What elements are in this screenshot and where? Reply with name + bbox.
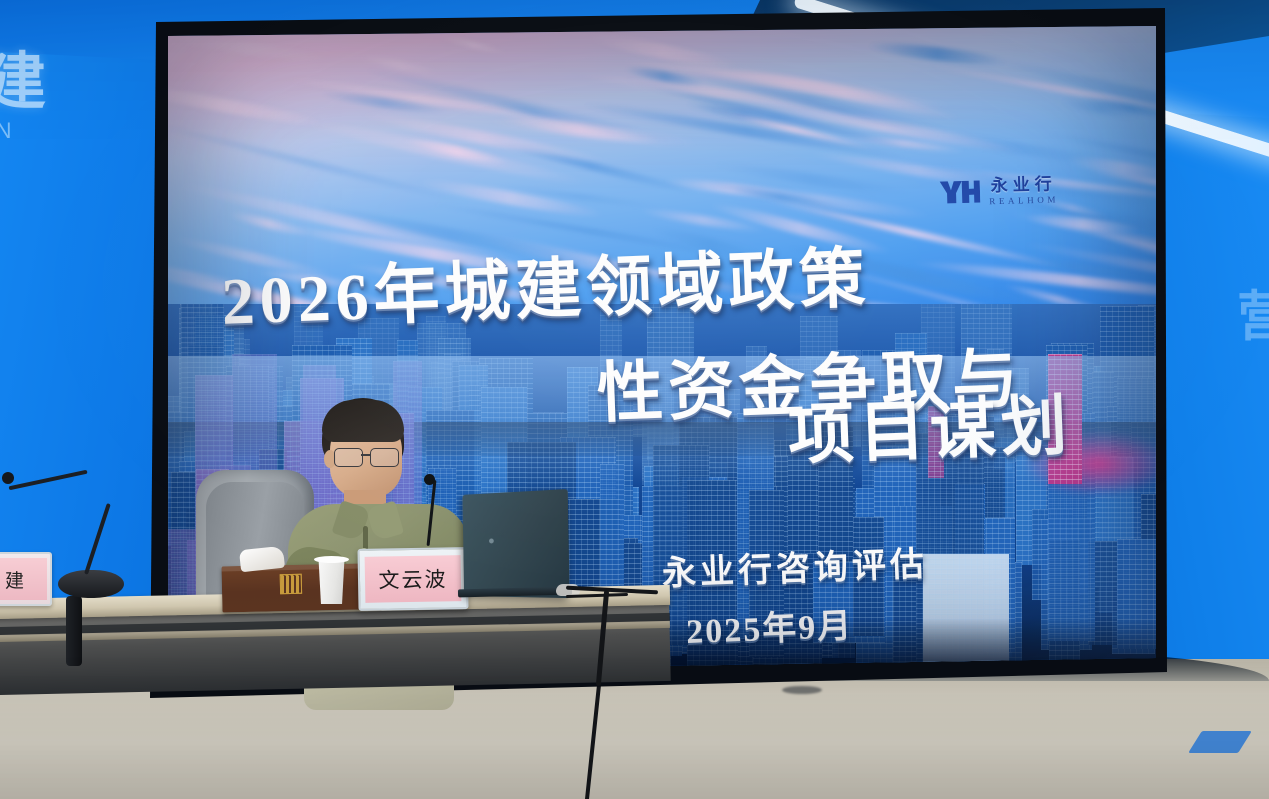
nameplate-secondary-text: 建 bbox=[5, 566, 25, 593]
microphone-capsule-icon bbox=[2, 472, 14, 484]
slide-subtitle-date: 2025年9月 bbox=[663, 595, 931, 654]
nameplate-presenter-text: 文云波 bbox=[378, 563, 448, 594]
nameplate-insert: 文云波 bbox=[365, 555, 462, 603]
tissue-box-emblem-icon bbox=[280, 574, 302, 594]
wall-logo-left: 建 AN bbox=[0, 52, 74, 182]
microphone-base bbox=[58, 570, 124, 598]
nameplate-presenter: 文云波 bbox=[357, 547, 468, 611]
glasses-lens-right bbox=[370, 448, 399, 467]
glasses-bridge bbox=[361, 454, 370, 456]
laptop-logo-dot bbox=[489, 538, 494, 543]
microphone-pole bbox=[66, 596, 82, 666]
yh-monogram-icon bbox=[938, 177, 981, 208]
laptop-lid[interactable] bbox=[462, 489, 569, 598]
glasses-icon bbox=[334, 448, 400, 465]
wall-logo-left-latin: AN bbox=[0, 118, 74, 144]
wall-logo-left-character: 建 bbox=[0, 52, 74, 114]
slide-subtitle-block: 永业行咨询评估 2025年9月 bbox=[661, 536, 931, 654]
slide-brand-text: 永业行 REALHOM bbox=[989, 175, 1059, 206]
wall-logo-right: 营 bbox=[1237, 290, 1269, 400]
tissue-sheet bbox=[239, 546, 285, 572]
microphone-2-capsule-icon bbox=[424, 474, 435, 485]
hair-top bbox=[322, 400, 404, 442]
paper-cup bbox=[316, 558, 347, 604]
paper-cup-rim bbox=[314, 556, 349, 563]
presentation-room-photo: 建 AN 营 永业行 REALHOM 20 bbox=[0, 0, 1269, 799]
wall-logo-right-character: 营 bbox=[1237, 290, 1269, 344]
slide-brand-cn: 永业行 bbox=[990, 175, 1056, 194]
nameplate-secondary: 建 bbox=[0, 552, 52, 606]
slide-subtitle-org: 永业行咨询评估 bbox=[661, 536, 929, 595]
glasses-lens-left bbox=[334, 448, 363, 467]
nameplate-secondary-insert: 建 bbox=[0, 558, 47, 600]
slide-brand-logo: 永业行 REALHOM bbox=[938, 174, 1059, 207]
slide-brand-en: REALHOM bbox=[989, 195, 1059, 206]
